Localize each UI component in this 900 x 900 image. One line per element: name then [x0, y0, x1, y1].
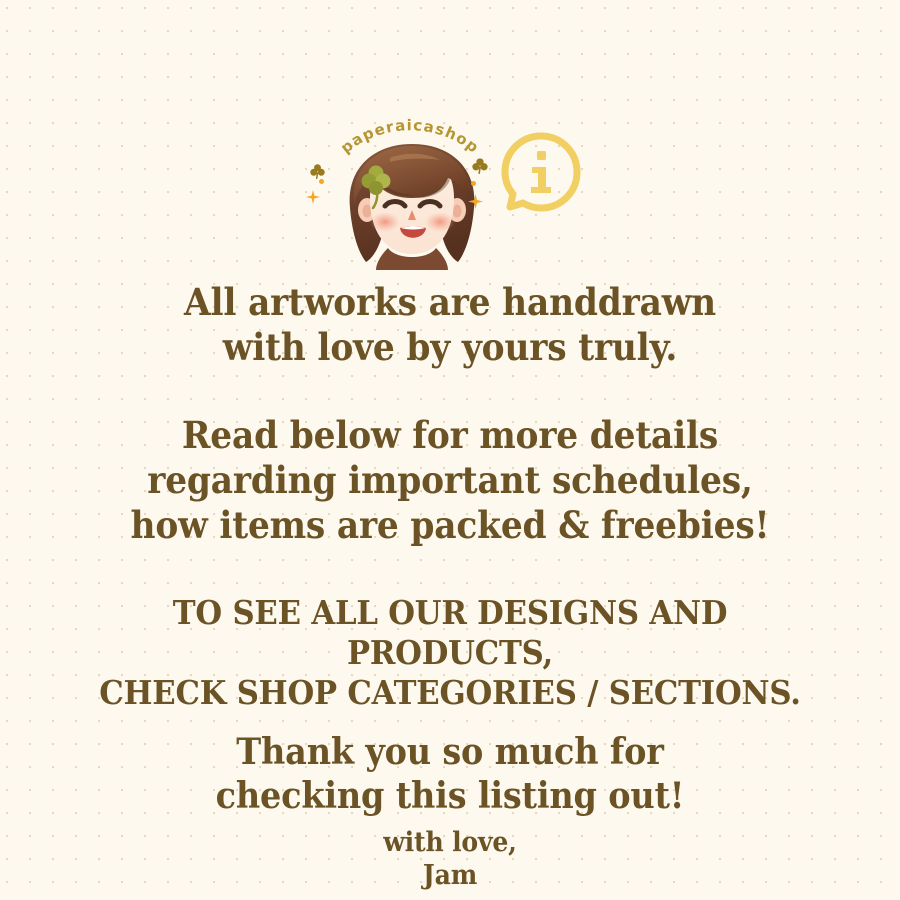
thanks-line-2: checking this listing out!	[32, 774, 869, 818]
designs-line-1: TO SEE ALL OUR DESIGNS AND	[32, 593, 869, 633]
signoff-block: with love, Jam	[32, 826, 869, 892]
signoff-signature: Jam	[32, 859, 869, 892]
sparkle-icon	[306, 190, 320, 204]
shop-info-card: paperaicashop	[0, 0, 900, 900]
details-line-3: how items are packed & freebies!	[32, 503, 869, 548]
logo-lockup: paperaicashop	[300, 118, 600, 283]
intro-line-2: with love by yours truly.	[32, 325, 869, 370]
signoff-line-1: with love,	[32, 826, 869, 859]
ear-right-inner	[453, 205, 462, 218]
clover-sparkle-icon	[310, 164, 325, 179]
copy-container: All artworks are handdrawn with love by …	[0, 280, 900, 892]
intro-block: All artworks are handdrawn with love by …	[32, 280, 869, 370]
avatar	[330, 136, 495, 271]
logo-header: paperaicashop	[0, 118, 900, 283]
designs-line-2: PRODUCTS,	[32, 633, 869, 673]
cheek-left	[370, 212, 400, 232]
thanks-block: Thank you so much for checking this list…	[32, 730, 869, 818]
details-block: Read below for more details regarding im…	[32, 413, 869, 548]
details-line-1: Read below for more details	[32, 413, 869, 458]
sparkle-icon	[318, 178, 325, 185]
details-line-2: regarding important schedules,	[32, 458, 869, 503]
intro-line-1: All artworks are handdrawn	[32, 280, 869, 325]
cheek-right	[425, 212, 455, 232]
thanks-line-1: Thank you so much for	[32, 730, 869, 774]
info-badge-icon[interactable]	[498, 129, 584, 215]
designs-line-3: CHECK SHOP CATEGORIES / SECTIONS.	[32, 673, 869, 713]
designs-block: TO SEE ALL OUR DESIGNS AND PRODUCTS, CHE…	[32, 593, 869, 713]
ear-left-inner	[363, 205, 372, 218]
